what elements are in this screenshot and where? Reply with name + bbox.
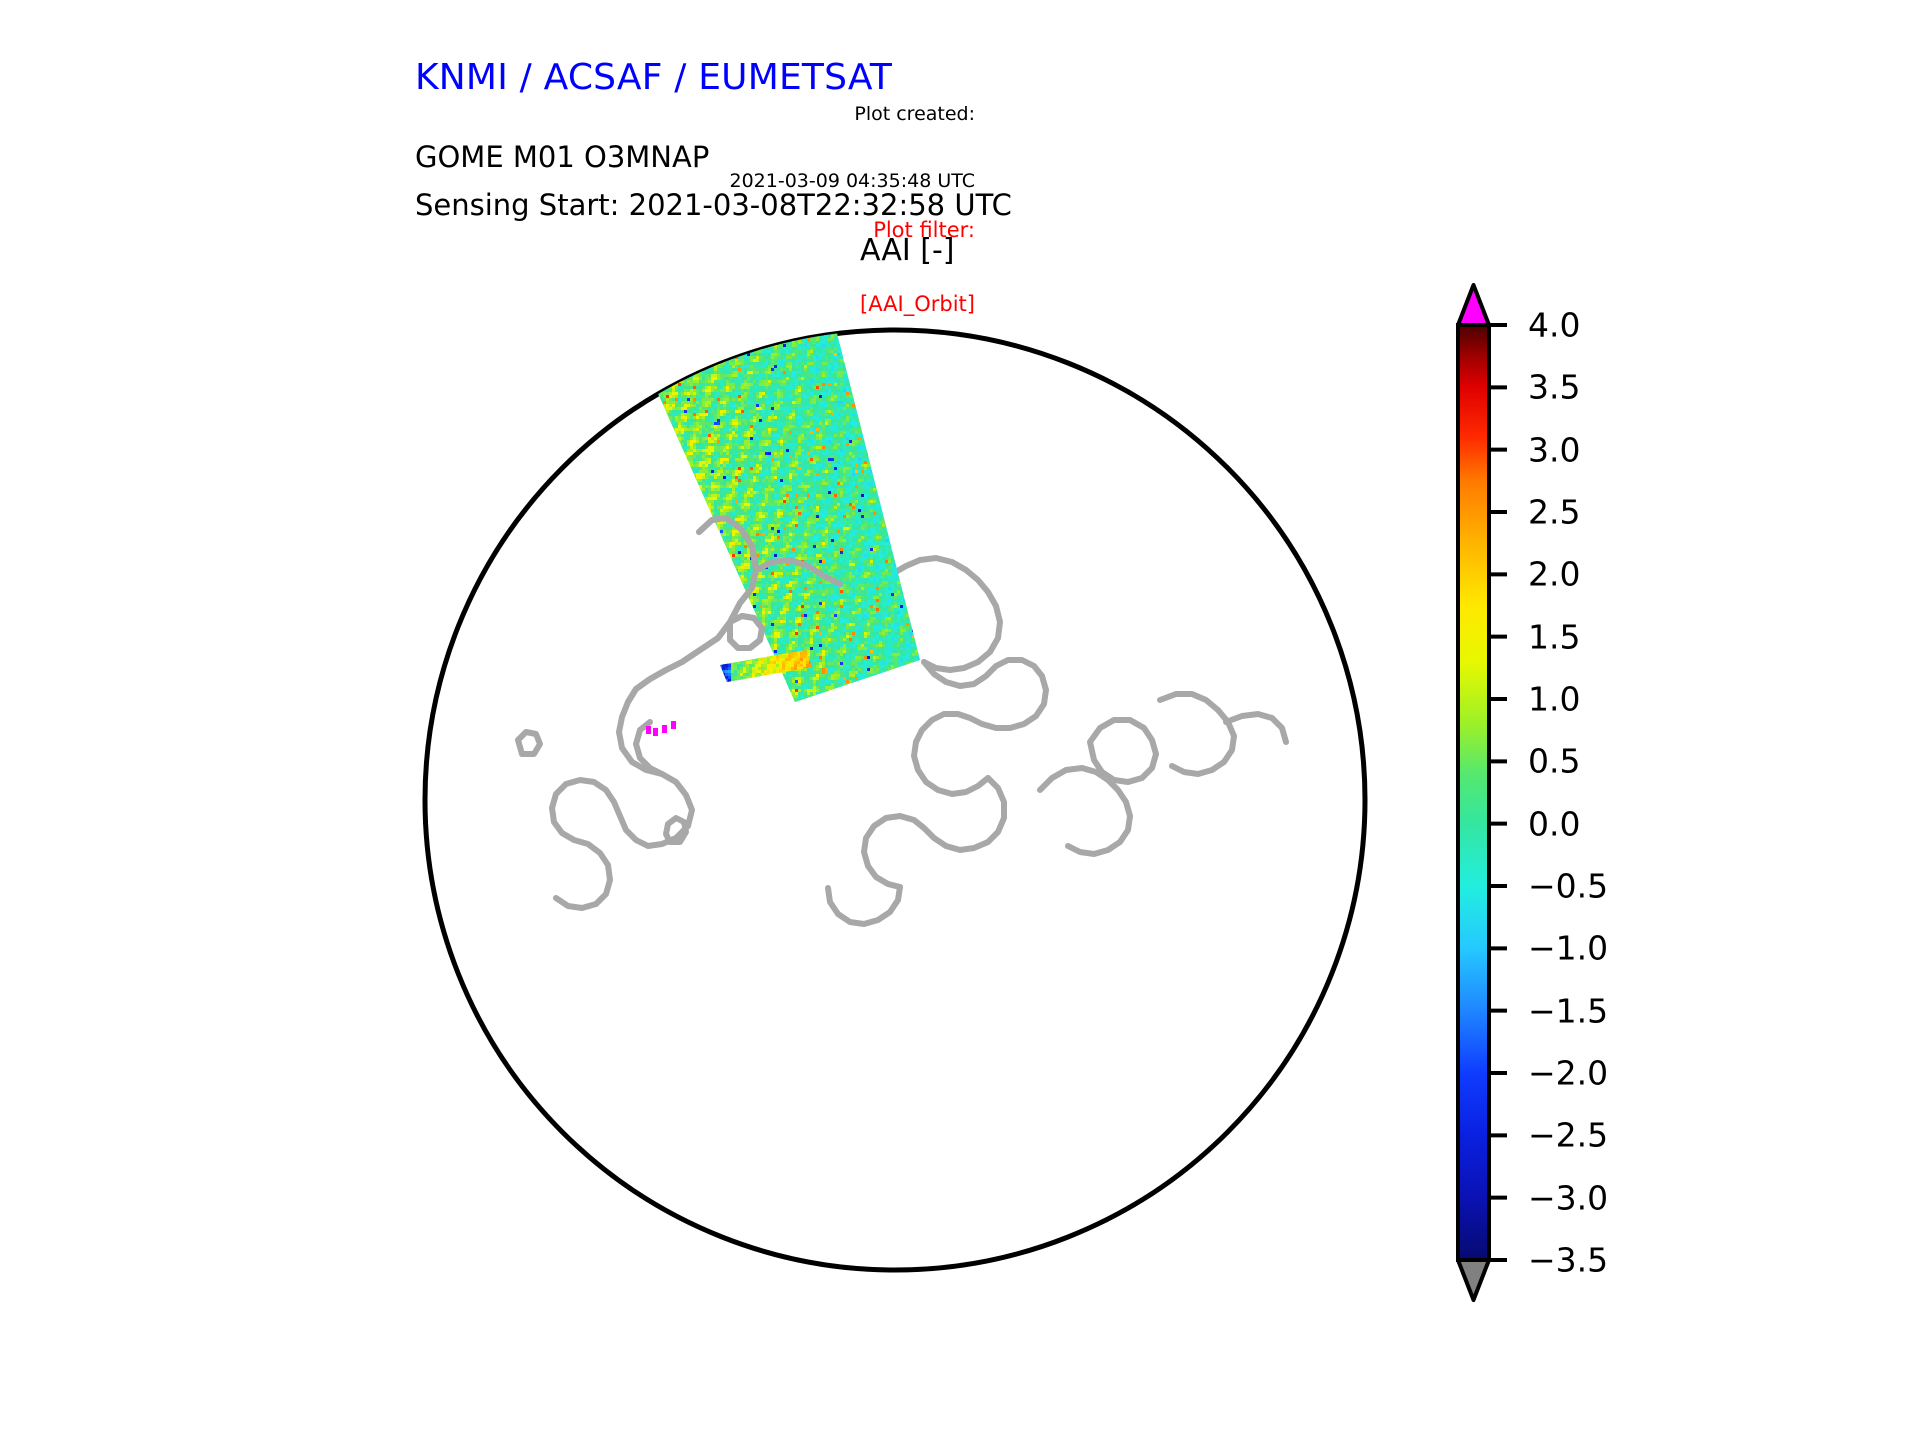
swath-pixel [780, 371, 784, 375]
swath-pixel [762, 416, 766, 420]
swath-pixel [771, 386, 775, 390]
swath-pixel [600, 308, 604, 312]
swath-pixel [600, 341, 604, 345]
swath-pixel [645, 332, 649, 336]
swath-pixel [609, 329, 613, 333]
swath-pixel [678, 329, 682, 333]
swath-pixel [627, 359, 631, 363]
swath-pixel [729, 407, 733, 411]
swath-pixel [729, 398, 733, 402]
swath-pixel [753, 317, 757, 321]
swath-pixel [840, 404, 844, 408]
swath-pixel [642, 383, 646, 387]
swath-pixel [792, 332, 796, 336]
swath-pixel [813, 344, 817, 348]
swath-pixel [876, 302, 880, 306]
swath-pixel [615, 410, 619, 414]
swath-pixel [717, 356, 721, 360]
swath-pixel [777, 299, 781, 303]
swath-pixel [675, 329, 679, 333]
swath-pixel [906, 311, 910, 315]
swath-pixel [741, 341, 745, 345]
swath-pixel [828, 410, 832, 414]
swath-pixel [765, 350, 769, 354]
swath-pixel [699, 347, 703, 351]
swath-pixel [708, 347, 712, 351]
swath-pixel [600, 350, 604, 354]
swath-pixel [816, 407, 820, 411]
swath-pixel [675, 302, 679, 306]
swath-pixel [849, 305, 853, 309]
swath-pixel [759, 341, 763, 345]
swath-pixel [639, 353, 643, 357]
swath-pixel [771, 371, 775, 375]
swath-pixel [630, 305, 634, 309]
swath-pixel [909, 320, 913, 324]
swath-pixel [708, 308, 712, 312]
swath-pixel [621, 296, 625, 300]
swath-pixel [663, 371, 667, 375]
swath-pixel [687, 314, 691, 318]
swath-pixel [642, 347, 646, 351]
swath-pixel [681, 329, 685, 333]
swath-pixel [825, 347, 829, 351]
swath-pixel [621, 368, 625, 372]
swath-pixel [843, 392, 847, 396]
swath-pixel [600, 413, 604, 417]
swath-pixel [669, 347, 673, 351]
swath-pixel [798, 383, 802, 387]
swath-pixel [681, 290, 685, 294]
swath-pixel [750, 293, 754, 297]
swath-pixel [882, 320, 886, 324]
swath-pixel [684, 407, 688, 411]
swath-pixel [609, 392, 613, 396]
swath-pixel [735, 383, 739, 387]
swath-pixel [780, 377, 784, 381]
swath-pixel [633, 305, 637, 309]
swath-pixel [786, 344, 790, 348]
swath-pixel [891, 302, 895, 306]
swath-pixel [945, 311, 949, 315]
swath-pixel [666, 335, 670, 339]
swath-pixel [690, 293, 694, 297]
swath-pixel [786, 410, 790, 414]
swath-pixel [855, 311, 859, 315]
swath-pixel [831, 296, 835, 300]
swath-pixel [816, 341, 820, 345]
swath-pixel [708, 395, 712, 399]
swath-pixel [726, 362, 730, 366]
swath-pixel [612, 317, 616, 321]
swath-pixel [720, 332, 724, 336]
swath-pixel [609, 296, 613, 300]
swath-pixel [675, 365, 679, 369]
swath-pixel [798, 416, 802, 420]
swath-pixel [948, 308, 952, 312]
swath-pixel [678, 395, 682, 399]
swath-pixel [792, 335, 796, 339]
swath-pixel [945, 326, 949, 330]
swath-pixel [660, 320, 664, 324]
swath-pixel [828, 392, 832, 396]
swath-pixel [801, 320, 805, 324]
swath-pixel [681, 383, 685, 387]
swath-pixel [798, 341, 802, 345]
swath-pixel [654, 329, 658, 333]
swath-pixel [759, 302, 763, 306]
swath-pixel [600, 362, 604, 366]
swath-pixel [801, 329, 805, 333]
swath-pixel [843, 389, 847, 393]
swath-pixel [720, 347, 724, 351]
swath-pixel [699, 350, 703, 354]
swath-pixel [633, 350, 637, 354]
swath-pixel [684, 350, 688, 354]
swath-pixel [615, 305, 619, 309]
swath-pixel [603, 359, 607, 363]
swath-pixel [804, 386, 808, 390]
swath-pixel [675, 416, 679, 420]
swath-pixel [756, 416, 760, 420]
swath-pixel [666, 320, 670, 324]
swath-pixel [822, 353, 826, 357]
swath-pixel [735, 395, 739, 399]
swath-pixel [795, 353, 799, 357]
swath-pixel [681, 371, 685, 375]
swath-pixel [825, 326, 829, 330]
swath-pixel [699, 311, 703, 315]
swath-pixel [612, 296, 616, 300]
swath-pixel [759, 293, 763, 297]
swath-pixel [636, 386, 640, 390]
swath-pixel [711, 398, 715, 402]
swath-pixel [810, 362, 814, 366]
swath-pixel [612, 380, 616, 384]
swath-pixel [654, 341, 658, 345]
swath-pixel [762, 293, 766, 297]
swath-pixel [666, 389, 670, 393]
swath-pixel [609, 320, 613, 324]
swath-pixel [798, 392, 802, 396]
swath-pixel [684, 317, 688, 321]
swath-pixel [816, 368, 820, 372]
swath-pixel [603, 353, 607, 357]
swath-pixel [612, 356, 616, 360]
swath-pixel [759, 410, 763, 414]
swath-pixel [846, 323, 850, 327]
swath-pixel [609, 362, 613, 366]
swath-pixel [681, 362, 685, 366]
swath-pixel [777, 404, 781, 408]
swath-pixel [666, 350, 670, 354]
swath-pixel [771, 413, 775, 417]
swath-pixel [687, 413, 691, 417]
swath-pixel [771, 401, 775, 405]
swath-pixel [675, 413, 679, 417]
swath-pixel [855, 305, 859, 309]
swath-pixel [708, 299, 712, 303]
swath-pixel [636, 377, 640, 381]
swath-pixel [837, 365, 841, 369]
swath-pixel [711, 416, 715, 420]
swath-pixel [819, 413, 823, 417]
swath-pixel [627, 398, 631, 402]
swath-pixel [633, 353, 637, 357]
swath-pixel [840, 383, 844, 387]
swath-pixel [675, 347, 679, 351]
swath-pixel [756, 401, 760, 405]
swath-pixel [708, 353, 712, 357]
swath-pixel [753, 344, 757, 348]
swath-pixel [948, 317, 952, 321]
swath-pixel [828, 335, 832, 339]
swath-pixel [780, 374, 784, 378]
swath-pixel [945, 323, 949, 327]
swath-pixel [603, 341, 607, 345]
swath-pixel [633, 326, 637, 330]
swath-pixel [711, 407, 715, 411]
swath-pixel [732, 413, 736, 417]
swath-pixel [639, 386, 643, 390]
swath-pixel [690, 404, 694, 408]
swath-pixel [741, 296, 745, 300]
swath-pixel [744, 404, 748, 408]
swath-pixel [654, 359, 658, 363]
swath-pixel [690, 344, 694, 348]
swath-pixel [630, 311, 634, 315]
swath-pixel [687, 401, 691, 405]
swath-pixel [744, 416, 748, 420]
swath-pixel [636, 293, 640, 297]
swath-pixel [666, 341, 670, 345]
swath-pixel [762, 350, 766, 354]
swath-pixel [831, 299, 835, 303]
globe-outline [425, 330, 1365, 1270]
swath-pixel [837, 413, 841, 417]
swath-pixel [699, 332, 703, 336]
swath-pixel [837, 293, 841, 297]
swath-pixel [627, 299, 631, 303]
swath-pixel [891, 317, 895, 321]
swath-pixel [693, 332, 697, 336]
swath-pixel [879, 317, 883, 321]
swath-pixel [618, 371, 622, 375]
swath-pixel [750, 344, 754, 348]
swath-pixel [693, 320, 697, 324]
swath-pixel [711, 395, 715, 399]
swath-pixel [720, 392, 724, 396]
swath-pixel [843, 326, 847, 330]
swath-pixel [789, 317, 793, 321]
swath-pixel [618, 305, 622, 309]
swath-pixel [900, 305, 904, 309]
swath-pixel [897, 290, 901, 294]
swath-pixel [879, 299, 883, 303]
swath-pixel [615, 386, 619, 390]
swath-pixel [648, 308, 652, 312]
swath-pixel [756, 395, 760, 399]
swath-pixel [810, 410, 814, 414]
swath-pixel [762, 305, 766, 309]
swath-pixel [798, 389, 802, 393]
swath-pixel [786, 395, 790, 399]
swath-pixel [753, 332, 757, 336]
swath-pixel [639, 341, 643, 345]
swath-pixel [708, 386, 712, 390]
swath-pixel [768, 317, 772, 321]
swath-pixel [798, 311, 802, 315]
swath-pixel [663, 353, 667, 357]
swath-pixel [762, 338, 766, 342]
swath-pixel [630, 296, 634, 300]
swath-pixel [732, 347, 736, 351]
swath-pixel [846, 407, 850, 411]
swath-pixel [606, 353, 610, 357]
swath-pixel [813, 365, 817, 369]
swath-pixel [930, 290, 934, 294]
swath-pixel [810, 398, 814, 402]
swath-pixel [822, 362, 826, 366]
swath-pixel [726, 407, 730, 411]
swath-pixel [654, 365, 658, 369]
swath-pixel [603, 320, 607, 324]
swath-pixel [687, 341, 691, 345]
swath-pixel [864, 317, 868, 321]
swath-pixel [618, 398, 622, 402]
swath-pixel [819, 395, 823, 399]
swath-pixel [723, 362, 727, 366]
swath-pixel [612, 335, 616, 339]
swath-pixel [669, 407, 673, 411]
swath-pixel [636, 341, 640, 345]
swath-pixel [756, 398, 760, 402]
swath-pixel [612, 365, 616, 369]
swath-pixel [663, 290, 667, 294]
swath-pixel [924, 311, 928, 315]
swath-pixel [729, 386, 733, 390]
swath-pixel [648, 359, 652, 363]
swath-pixel [711, 374, 715, 378]
swath-pixel [696, 290, 700, 294]
swath-pixel [708, 329, 712, 333]
swath-pixel [615, 293, 619, 297]
swath-pixel [639, 362, 643, 366]
swath-pixel [744, 335, 748, 339]
swath-pixel [924, 314, 928, 318]
swath-pixel [672, 305, 676, 309]
swath-pixel [933, 317, 937, 321]
swath-pixel [786, 353, 790, 357]
swath-pixel [846, 293, 850, 297]
swath-pixel [822, 410, 826, 414]
swath-pixel [942, 293, 946, 297]
swath-pixel [711, 305, 715, 309]
swath-pixel [678, 308, 682, 312]
swath-pixel [816, 317, 820, 321]
swath-pixel [804, 326, 808, 330]
swath-pixel [939, 314, 943, 318]
swath-pixel [801, 302, 805, 306]
swath-pixel [735, 311, 739, 315]
swath-pixel [792, 356, 796, 360]
swath-pixel [747, 410, 751, 414]
swath-pixel [624, 329, 628, 333]
swath-pixel [738, 332, 742, 336]
swath-pixel [690, 326, 694, 330]
swath-pixel [834, 314, 838, 318]
swath-pixel [786, 290, 790, 294]
swath-pixel [705, 383, 709, 387]
swath-pixel [723, 401, 727, 405]
swath-pixel [813, 290, 817, 294]
swath-pixel [717, 365, 721, 369]
swath-pixel [636, 392, 640, 396]
swath-pixel [684, 368, 688, 372]
swath-pixel [756, 365, 760, 369]
swath-pixel [780, 293, 784, 297]
swath-pixel [630, 347, 634, 351]
swath-pixel [771, 410, 775, 414]
swath-pixel [801, 389, 805, 393]
swath-pixel [687, 392, 691, 396]
swath-pixel [726, 320, 730, 324]
swath-pixel [792, 389, 796, 393]
swath-pixel [936, 308, 940, 312]
swath-pixel [693, 368, 697, 372]
swath-pixel [639, 317, 643, 321]
swath-pixel [645, 386, 649, 390]
swath-pixel [858, 317, 862, 321]
swath-pixel [720, 401, 724, 405]
swath-pixel [741, 386, 745, 390]
swath-pixel [648, 392, 652, 396]
swath-pixel [612, 353, 616, 357]
swath-pixel [765, 395, 769, 399]
swath-pixel [921, 290, 925, 294]
swath-pixel [654, 308, 658, 312]
swath-pixel [612, 410, 616, 414]
swath-pixel [780, 389, 784, 393]
swath-pixel [621, 362, 625, 366]
swath-pixel [642, 380, 646, 384]
swath-pixel [816, 383, 820, 387]
swath-pixel [669, 395, 673, 399]
swath-pixel [927, 299, 931, 303]
swath-pixel [795, 371, 799, 375]
swath-pixel [762, 356, 766, 360]
swath-pixel [615, 401, 619, 405]
swath-pixel [672, 350, 676, 354]
swath-pixel [786, 332, 790, 336]
swath-pixel [792, 383, 796, 387]
swath-pixel [705, 347, 709, 351]
swath-pixel [612, 311, 616, 315]
swath-pixel [837, 326, 841, 330]
swath-pixel [654, 320, 658, 324]
swath-pixel [855, 317, 859, 321]
swath-pixel [615, 380, 619, 384]
swath-pixel [870, 302, 874, 306]
swath-pixel [714, 374, 718, 378]
swath-pixel [843, 305, 847, 309]
swath-pixel [753, 371, 757, 375]
swath-pixel [822, 359, 826, 363]
swath-pixel [753, 302, 757, 306]
swath-pixel [675, 392, 679, 396]
swath-pixel [672, 353, 676, 357]
swath-pixel [783, 407, 787, 411]
